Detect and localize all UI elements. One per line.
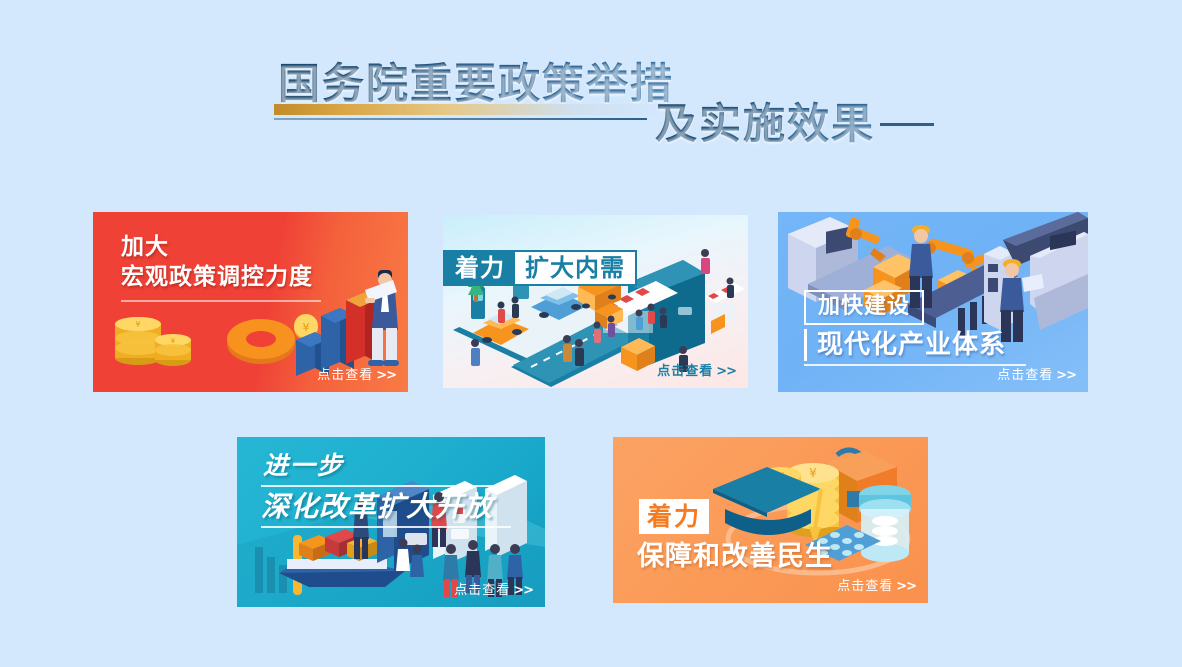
card-2-title-line2: 扩大内需 xyxy=(515,250,637,286)
card-3-cta-arrows-icon: >> xyxy=(1056,368,1076,383)
page-header: 国务院重要政策举措 及实施效果 xyxy=(0,0,1182,190)
card-1-cta[interactable]: 点击查看>> xyxy=(317,364,396,383)
card-5-title-line2: 保障和改善民生 xyxy=(637,540,833,573)
card-4-title-divider-bottom xyxy=(261,526,511,528)
card-3-cta[interactable]: 点击查看>> xyxy=(997,364,1076,383)
card-3-title-line2: 现代化产业体系 xyxy=(804,329,1006,361)
title-gold-underline-bar xyxy=(274,104,658,115)
policy-card-expand-domestic-demand[interactable]: 着力 扩大内需 点击查看>> xyxy=(443,215,748,388)
card-2-cta[interactable]: 点击查看>> xyxy=(657,360,736,379)
policy-card-improve-livelihood[interactable]: ¥ ¥ xyxy=(613,437,928,603)
card-3-title-line1: 加快建设 xyxy=(804,290,924,325)
svg-text:¥: ¥ xyxy=(303,321,310,334)
card-4-title-line2: 深化改革扩大开放 xyxy=(261,490,493,524)
card-1-title-line1: 加大 xyxy=(121,232,313,262)
card-2-cta-arrows-icon: >> xyxy=(716,364,736,379)
title-dash-decoration xyxy=(880,123,934,126)
card-4-cta-label: 点击查看 xyxy=(454,583,510,598)
card-1-title-line2: 宏观政策调控力度 xyxy=(121,262,313,292)
card-5-cta[interactable]: 点击查看>> xyxy=(837,575,916,594)
card-3-cta-label: 点击查看 xyxy=(997,368,1053,383)
card-1-title: 加大 宏观政策调控力度 xyxy=(121,232,313,292)
policy-card-increase-macro-control[interactable]: ¥ ¥ ¥ xyxy=(93,212,408,392)
card-1-cta-arrows-icon: >> xyxy=(376,368,396,383)
policy-card-modern-industrial-system[interactable]: 加快建设 现代化产业体系 点击查看>> xyxy=(778,212,1088,392)
card-2-cta-label: 点击查看 xyxy=(657,364,713,379)
card-3-title-underline xyxy=(804,364,1026,366)
card-1-cta-label: 点击查看 xyxy=(317,368,373,383)
page-title-line2-wrapper: 及实施效果 xyxy=(655,100,1055,156)
card-5-cta-label: 点击查看 xyxy=(837,579,893,594)
card-2-title-line1: 着力 xyxy=(443,250,515,286)
card-4-cta[interactable]: 点击查看>> xyxy=(454,579,533,598)
card-4-title-line1: 进一步 xyxy=(263,451,344,481)
card-2-title-banner: 着力 扩大内需 xyxy=(443,250,637,286)
card-4-title-divider-top xyxy=(261,485,506,487)
card-5-title-line1: 着力 xyxy=(639,499,709,534)
svg-text:¥: ¥ xyxy=(171,337,176,345)
svg-text:¥: ¥ xyxy=(135,320,140,329)
svg-text:¥: ¥ xyxy=(809,466,817,480)
card-5-cta-arrows-icon: >> xyxy=(896,579,916,594)
page-title-line2: 及实施效果 xyxy=(655,100,1055,148)
card-4-cta-arrows-icon: >> xyxy=(513,583,533,598)
card-1-title-underline xyxy=(121,300,321,302)
title-rule-line xyxy=(274,118,647,120)
policy-card-deepen-reform-open-up[interactable]: 进一步 深化改革扩大开放 点击查看>> xyxy=(237,437,545,607)
